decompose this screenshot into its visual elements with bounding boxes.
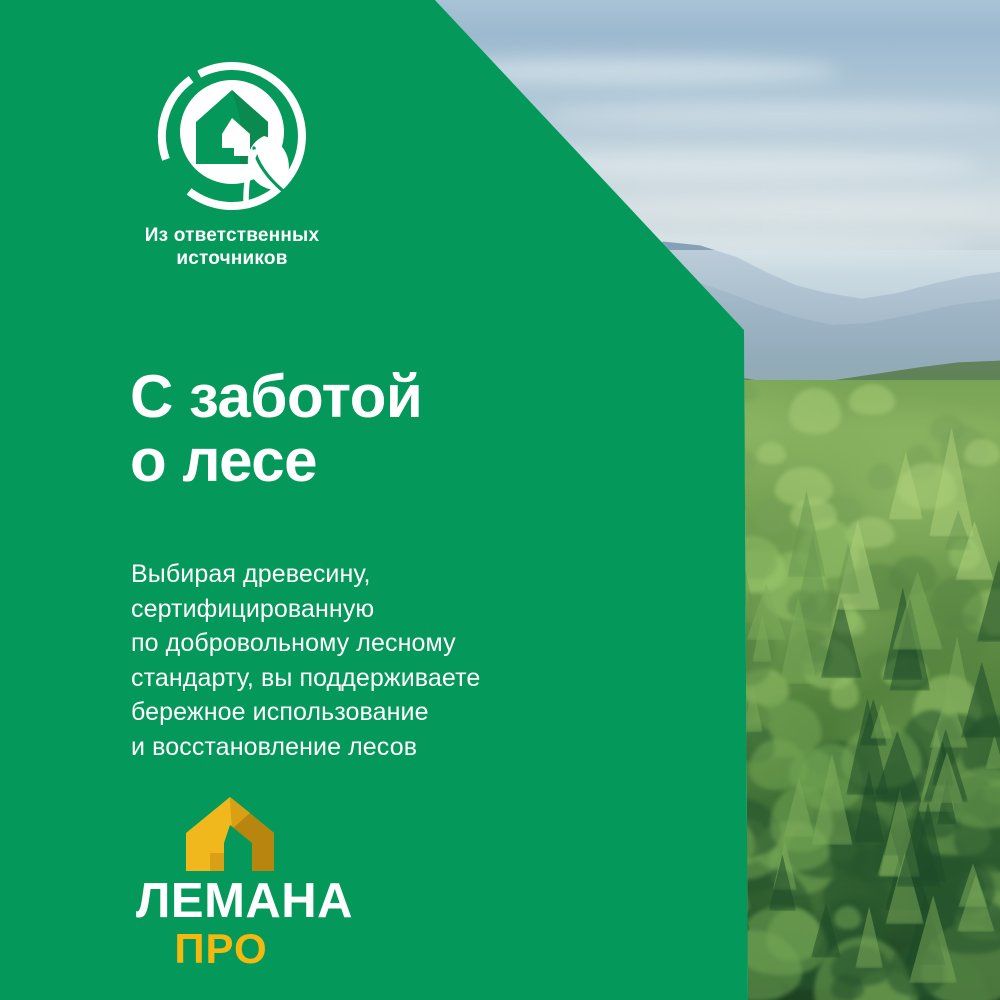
tree-crown <box>775 467 833 506</box>
cloud-band <box>550 104 1000 124</box>
certification-badge: Из ответственных источников <box>128 60 398 270</box>
tree-crown <box>757 442 785 464</box>
page-title: С заботой о лесе <box>130 365 422 492</box>
tree-crown <box>831 974 863 1000</box>
tree-crown <box>834 906 860 929</box>
tree-crown <box>849 384 895 415</box>
badge-caption: Из ответственных источников <box>132 224 332 270</box>
tree-crown <box>930 415 965 442</box>
responsible-sourcing-seal-icon <box>156 60 308 212</box>
tree-crown <box>868 463 896 490</box>
lemana-house-icon <box>182 795 278 873</box>
tree-crown <box>830 677 860 709</box>
tree-crown <box>964 439 1000 466</box>
poster-root: Из ответственных источников С заботой о … <box>0 0 1000 1000</box>
cloud-band <box>600 196 1000 218</box>
brand-name: ЛЕМАНА <box>136 877 376 926</box>
tree-crown <box>755 500 790 536</box>
brand-subname: ПРО <box>136 928 306 970</box>
brand-logo: ЛЕМАНА ПРО <box>136 795 376 970</box>
tree-crown <box>789 388 841 434</box>
body-copy: Выбирая древесину, сертифицированную по … <box>131 557 480 764</box>
